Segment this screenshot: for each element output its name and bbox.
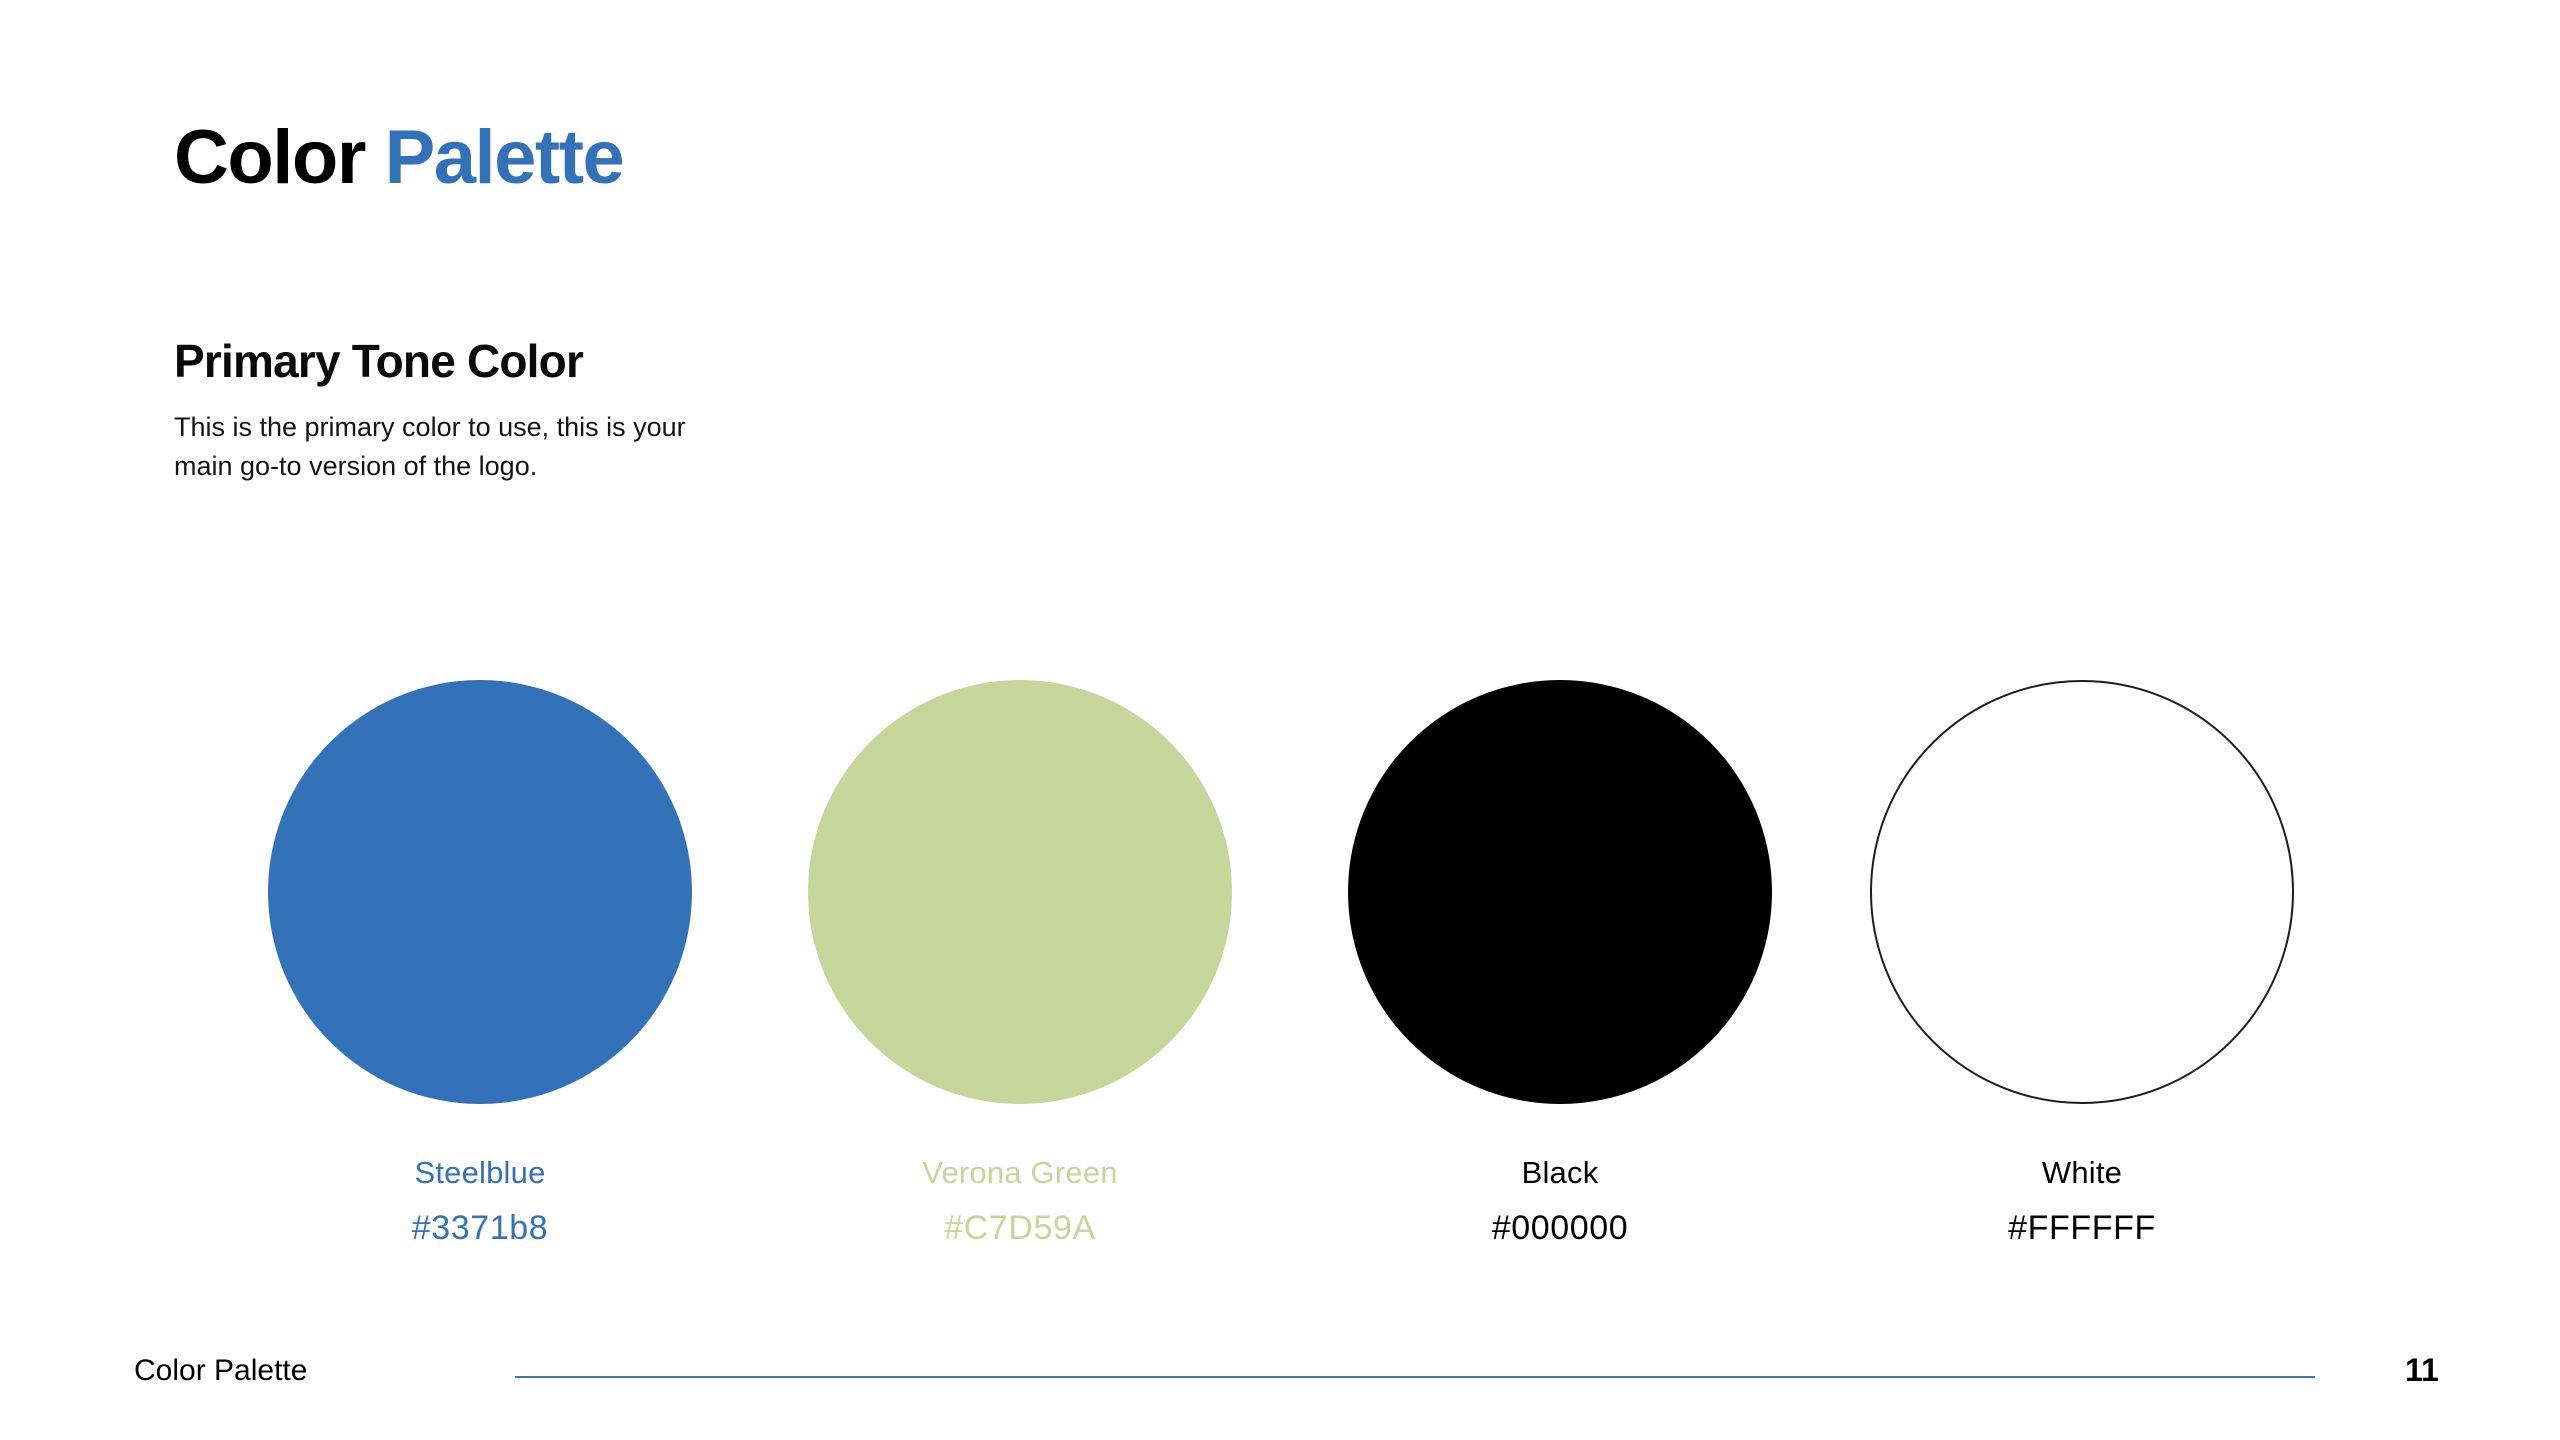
slide-canvas: Color Palette Primary Tone Color This is…	[0, 0, 2560, 1440]
color-name-steelblue: Steelblue	[210, 1156, 750, 1190]
color-swatch-steelblue[interactable]: Steelblue #3371b8	[210, 680, 750, 1247]
color-hex-white: #FFFFFF	[1812, 1210, 2352, 1247]
color-hex-verona-green: #C7D59A	[750, 1210, 1290, 1247]
page-title-primary: Color	[174, 115, 365, 200]
footer-page-number: 11	[2405, 1352, 2439, 1389]
color-name-white: White	[1812, 1156, 2352, 1190]
footer-label: Color Palette	[134, 1354, 307, 1388]
section-description-line-1: This is the primary color to use, this i…	[174, 408, 914, 447]
color-swatch-black[interactable]: Black #000000	[1290, 680, 1830, 1247]
color-disc-steelblue[interactable]	[268, 680, 692, 1104]
section-description-line-2: main go-to version of the logo.	[174, 447, 914, 486]
footer-divider	[515, 1376, 2315, 1378]
color-disc-white[interactable]	[1870, 680, 2294, 1104]
section-description: This is the primary color to use, this i…	[174, 408, 914, 486]
color-hex-black: #000000	[1290, 1210, 1830, 1247]
color-swatch-white[interactable]: White #FFFFFF	[1812, 680, 2352, 1247]
slide-footer: Color Palette 11	[0, 1352, 2560, 1412]
color-name-verona-green: Verona Green	[750, 1156, 1290, 1190]
section-heading: Primary Tone Color	[174, 334, 583, 388]
color-swatch-row: Steelblue #3371b8 Verona Green #C7D59A B…	[174, 680, 2389, 1300]
color-disc-verona-green[interactable]	[808, 680, 1232, 1104]
color-swatch-verona-green[interactable]: Verona Green #C7D59A	[750, 680, 1290, 1247]
page-title-accent: Palette	[385, 115, 624, 200]
color-hex-steelblue: #3371b8	[210, 1210, 750, 1247]
color-name-black: Black	[1290, 1156, 1830, 1190]
page-title: Color Palette	[174, 118, 623, 198]
color-disc-black[interactable]	[1348, 680, 1772, 1104]
